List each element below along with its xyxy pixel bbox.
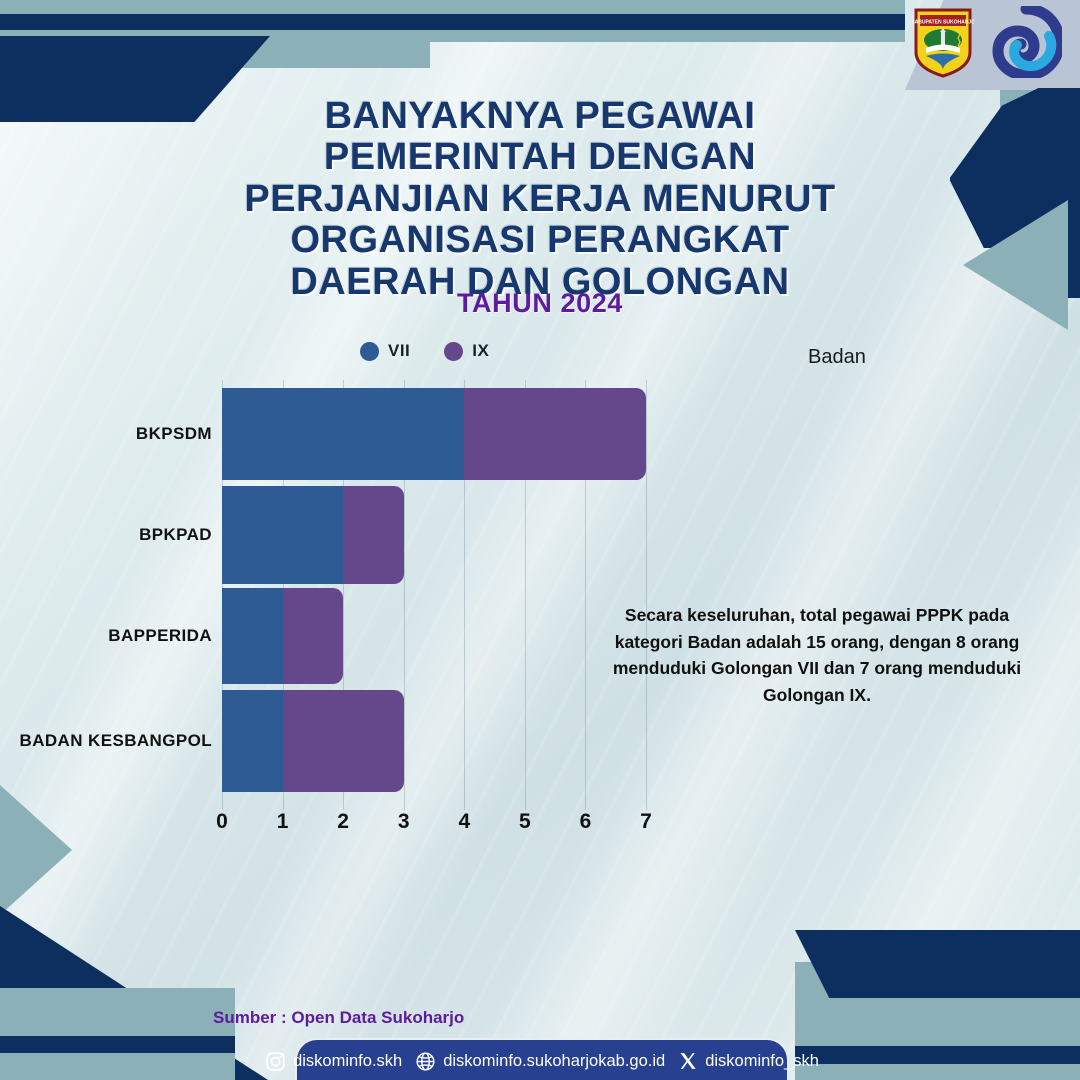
bar-segment-ix xyxy=(343,486,404,584)
x-axis-ticks: 01234567 xyxy=(222,810,646,840)
infographic-poster: KABUPATEN SUKOHARJO BANYAKNYA PEGAWAI PE… xyxy=(0,0,1080,1080)
top-left-navy-band xyxy=(0,14,905,30)
bar-segment-ix xyxy=(283,588,344,684)
bottom-left-teal-band xyxy=(0,988,235,1080)
contact-website[interactable]: diskominfo.sukoharjokab.go.id xyxy=(415,1051,665,1072)
x-tick-label: 3 xyxy=(398,810,410,834)
x-tick-label: 2 xyxy=(337,810,349,834)
bar-track xyxy=(222,690,646,792)
globe-icon xyxy=(415,1051,436,1072)
contact-website-text: diskominfo.sukoharjokab.go.id xyxy=(443,1052,665,1071)
bar-segment-vii xyxy=(222,690,283,792)
x-tick-label: 0 xyxy=(216,810,228,834)
title-line-1: BANYAKNYA PEGAWAI xyxy=(0,96,1080,137)
bottom-right-navy-strip xyxy=(795,1046,1080,1064)
bar-track xyxy=(222,588,646,684)
bottom-right-navy-parallelogram xyxy=(795,930,1080,998)
source-label: Sumber : Open Data Sukoharjo xyxy=(213,1008,464,1028)
summary-note: Secara keseluruhan, total pegawai PPPK p… xyxy=(592,602,1042,708)
page-title: BANYAKNYA PEGAWAI PEMERINTAH DENGAN PERJ… xyxy=(0,96,1080,303)
title-line-3: PERJANJIAN KERJA MENURUT xyxy=(0,179,1080,220)
contact-bar: diskominfo.skh diskominfo.sukoharjokab.g… xyxy=(295,1038,789,1080)
bar-segment-ix xyxy=(464,388,646,480)
legend-label-vii: VII xyxy=(388,341,410,361)
contact-instagram[interactable]: diskominfo.skh xyxy=(265,1051,402,1072)
bottom-left-navy-strip xyxy=(0,1036,235,1053)
x-tick-label: 7 xyxy=(640,810,652,834)
x-tick-label: 1 xyxy=(277,810,289,834)
legend-item-ix: IX xyxy=(444,341,489,361)
bar-track xyxy=(222,388,646,480)
legend-dot-ix xyxy=(444,342,463,361)
contact-instagram-text: diskominfo.skh xyxy=(293,1052,402,1071)
title-line-4: ORGANISASI PERANGKAT xyxy=(0,220,1080,261)
category-label: BADAN KESBANGPOL xyxy=(0,731,222,751)
chart-legend: VII IX xyxy=(360,341,489,361)
x-tick-label: 4 xyxy=(458,810,470,834)
chart-row: BKPSDM xyxy=(0,388,700,480)
group-label-badan: Badan xyxy=(808,346,866,369)
kabupaten-sukoharjo-emblem: KABUPATEN SUKOHARJO xyxy=(912,6,974,78)
x-twitter-icon xyxy=(678,1051,698,1071)
bar-track xyxy=(222,486,646,584)
bar-segment-vii xyxy=(222,486,343,584)
bottom-right-teal-strip xyxy=(795,1064,1080,1080)
bar-segment-vii xyxy=(222,588,283,684)
year-subtitle: TAHUN 2024 xyxy=(0,288,1080,319)
legend-item-vii: VII xyxy=(360,341,410,361)
chart-row: BPKPAD xyxy=(0,486,700,584)
stacked-bar-chart: BKPSDMBPKPADBAPPERIDABADAN KESBANGPOL 01… xyxy=(0,380,700,820)
bar-segment-vii xyxy=(222,388,464,480)
legend-label-ix: IX xyxy=(472,341,489,361)
contact-x-text: diskominfo_skh xyxy=(705,1052,819,1071)
chart-rows: BKPSDMBPKPADBAPPERIDABADAN KESBANGPOL xyxy=(0,380,700,810)
svg-text:KABUPATEN SUKOHARJO: KABUPATEN SUKOHARJO xyxy=(912,20,974,26)
instagram-icon xyxy=(265,1051,286,1072)
x-tick-label: 5 xyxy=(519,810,531,834)
x-tick-label: 6 xyxy=(580,810,592,834)
category-label: BKPSDM xyxy=(0,424,222,444)
title-line-2: PEMERINTAH DENGAN xyxy=(0,137,1080,178)
bar-segment-ix xyxy=(283,690,404,792)
contact-x[interactable]: diskominfo_skh xyxy=(678,1051,819,1071)
category-label: BAPPERIDA xyxy=(0,626,222,646)
legend-dot-vii xyxy=(360,342,379,361)
kominfo-logo xyxy=(990,6,1062,78)
logo-group: KABUPATEN SUKOHARJO xyxy=(912,6,1062,78)
category-label: BPKPAD xyxy=(0,525,222,545)
top-left-teal-band-1 xyxy=(0,0,905,14)
